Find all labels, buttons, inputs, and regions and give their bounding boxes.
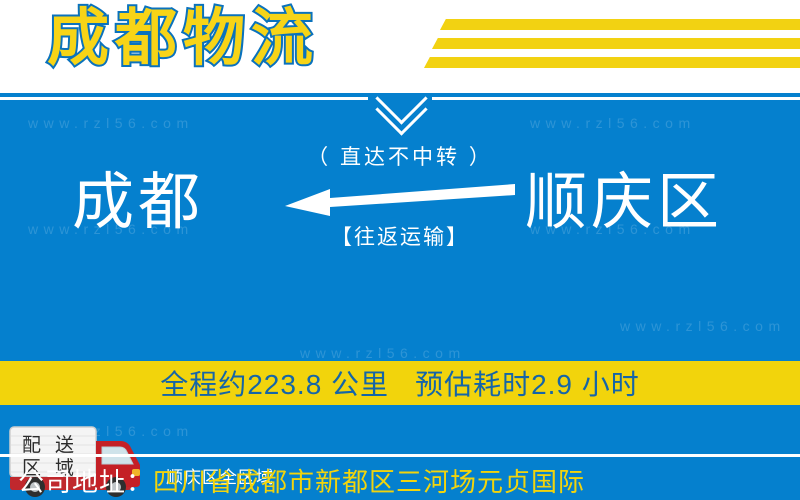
total-distance: 全程约223.8 公里 xyxy=(160,363,389,403)
watermark: www.rzl56.com xyxy=(28,115,194,131)
company-address-value: 四川省成都市新都区三河场元贞国际 xyxy=(153,467,585,497)
poster-header: 成都物流 xyxy=(0,0,800,93)
header-stripe-3 xyxy=(424,57,800,68)
brand-title: 成都物流 xyxy=(47,3,319,75)
footer-divider xyxy=(0,454,800,457)
logistics-poster: 成都物流 www.rzl56.com www.rzl56.com www.rzl… xyxy=(0,0,800,500)
distance-bar-text: 全程约223.8 公里 预估耗时2.9 小时 xyxy=(0,361,800,405)
divider-line-right xyxy=(432,97,800,100)
watermark: www.rzl56.com xyxy=(530,115,696,131)
truck-box-char-2: 送 xyxy=(55,434,74,456)
watermark: www.rzl56.com xyxy=(300,345,466,361)
origin-city: 成都 xyxy=(72,168,204,238)
company-address: 公司地址：四川省成都市新都区三河场元贞国际 xyxy=(18,465,798,499)
header-stripe-2 xyxy=(432,38,800,49)
truck-box-char-1: 配 xyxy=(22,434,41,456)
poster-body: www.rzl56.com www.rzl56.com www.rzl56.co… xyxy=(0,93,800,500)
divider-line-left xyxy=(0,97,368,100)
watermark: www.rzl56.com xyxy=(620,318,786,334)
estimated-duration: 预估耗时2.9 小时 xyxy=(415,363,640,403)
destination-city: 顺庆区 xyxy=(525,168,723,238)
route-note-direct: （ 直达不中转 ） xyxy=(0,141,800,171)
distance-bar: 全程约223.8 公里 预估耗时2.9 小时 xyxy=(0,361,800,405)
company-address-label: 公司地址： xyxy=(18,467,153,497)
bidirectional-arrow-icon xyxy=(285,176,515,220)
header-stripe-1 xyxy=(440,19,800,30)
